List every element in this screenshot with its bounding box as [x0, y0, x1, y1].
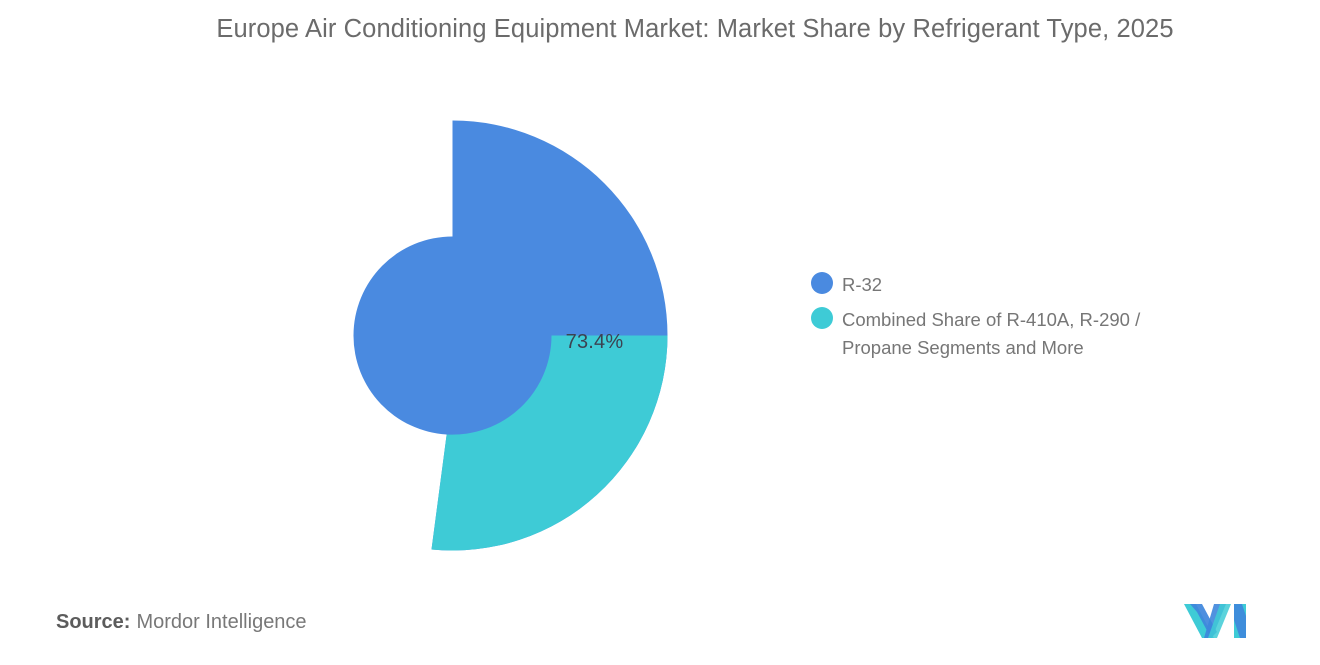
legend-swatch-icon — [811, 272, 833, 294]
chart-figure: Europe Air Conditioning Equipment Market… — [0, 0, 1320, 665]
source-line: Source:Mordor Intelligence — [56, 611, 307, 634]
legend-item-label: R-32 — [842, 271, 882, 299]
chart-title: Europe Air Conditioning Equipment Market… — [150, 10, 1240, 48]
legend-item-label: Combined Share of R-410A, R-290 / Propan… — [842, 306, 1210, 362]
mordor-intelligence-logo-icon — [1184, 598, 1252, 638]
source-value: Mordor Intelligence — [136, 611, 306, 633]
source-label: Source: — [56, 611, 130, 633]
legend-swatch-icon — [811, 307, 833, 329]
legend-item-combined[interactable]: Combined Share of R-410A, R-290 / Propan… — [811, 306, 1231, 362]
donut-chart: 73.4% — [237, 120, 668, 551]
chart-legend: R-32 Combined Share of R-410A, R-290 / P… — [811, 271, 1231, 369]
donut-chart-svg — [237, 120, 668, 551]
legend-item-r32[interactable]: R-32 — [811, 271, 1231, 299]
